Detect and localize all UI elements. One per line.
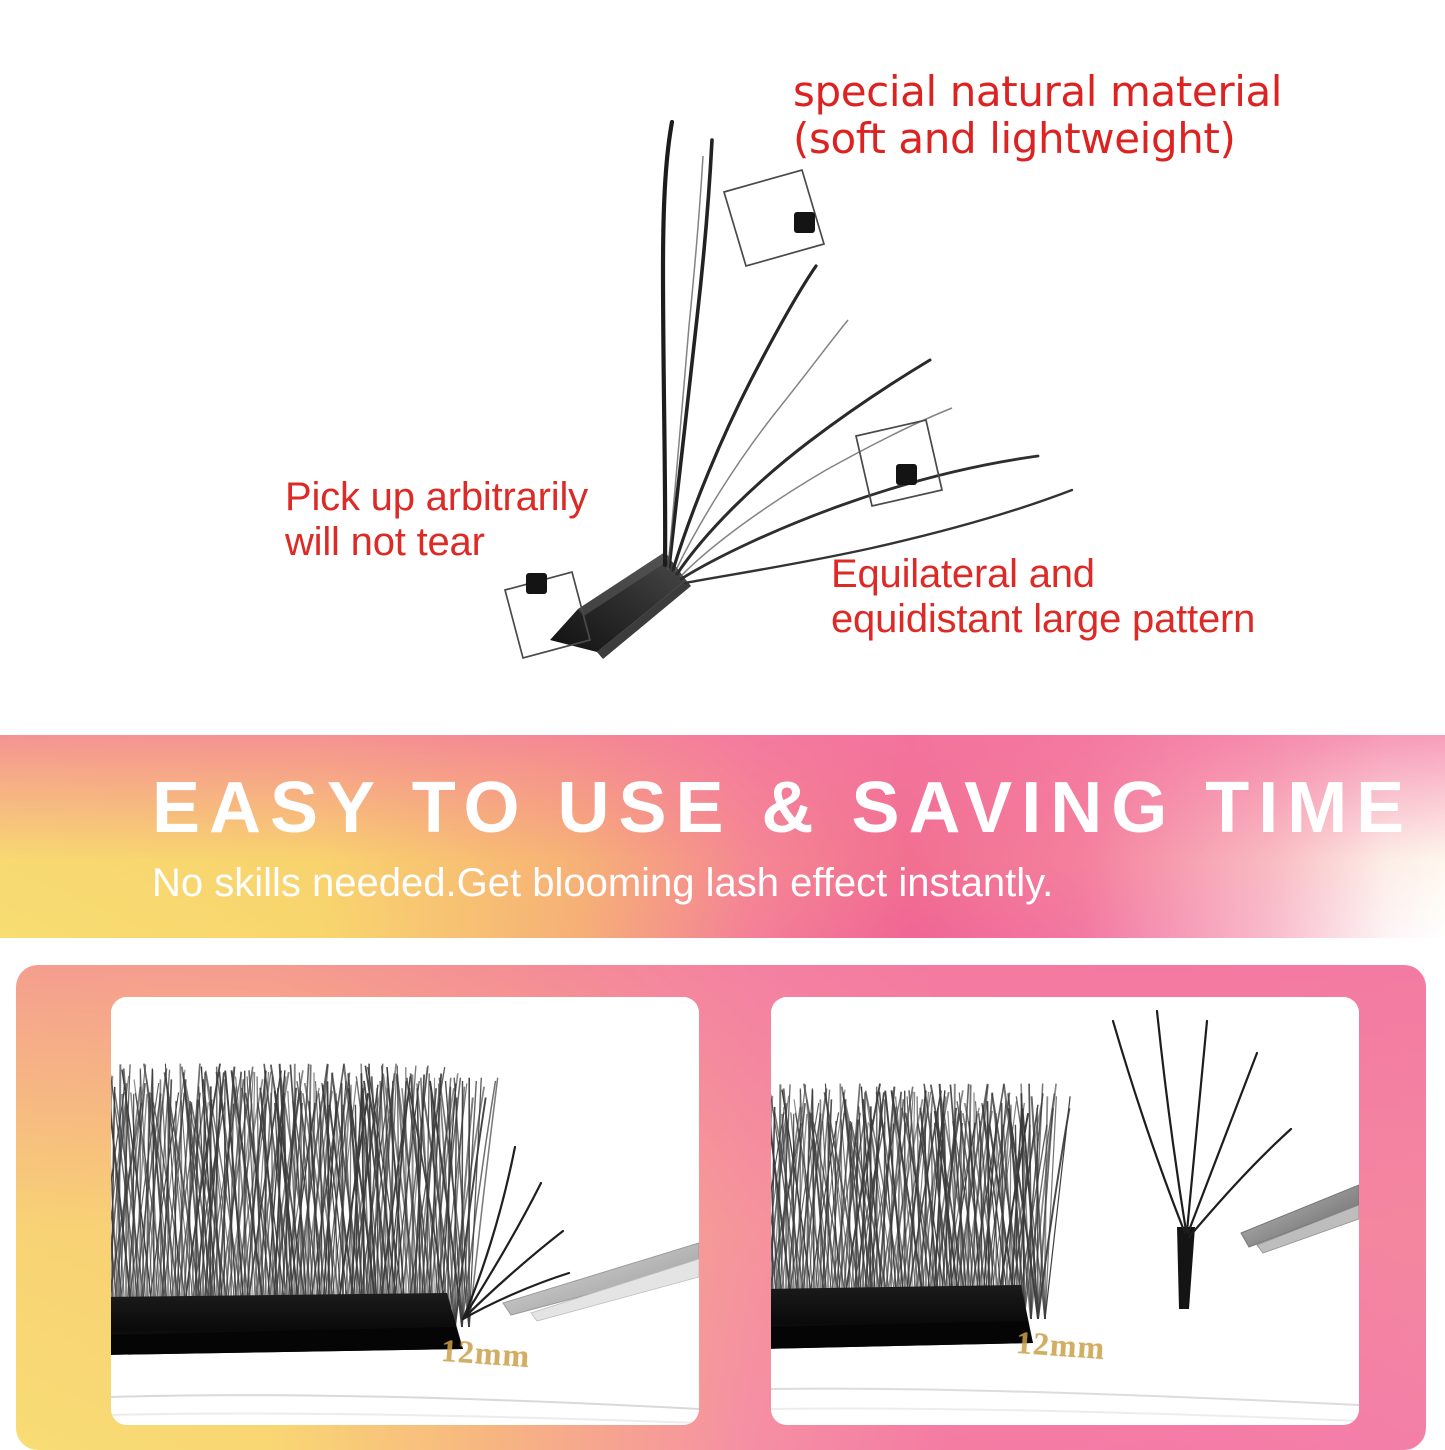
callout-marker-top <box>724 170 824 266</box>
callout-equilateral: Equilateral and equidistant large patter… <box>831 552 1255 642</box>
banner-title: EASY TO USE & SAVING TIME <box>152 767 1413 849</box>
top-feature-section: special natural material (soft and light… <box>0 0 1445 733</box>
photo-card-lash-tray: 12mm <box>111 997 699 1425</box>
lash-tray-photo <box>111 997 699 1425</box>
product-photo-panel: 12mm <box>16 965 1426 1450</box>
lash-length-label: 12mm <box>440 1332 532 1375</box>
banner-subtitle: No skills needed.Get blooming lash effec… <box>152 861 1053 906</box>
callout-pick-up: Pick up arbitrarily will not tear <box>285 475 588 565</box>
lash-length-label: 12mm <box>1015 1324 1107 1367</box>
callout-special-material: special natural material (soft and light… <box>793 68 1282 162</box>
callout-marker-right <box>856 420 942 506</box>
promo-banner: EASY TO USE & SAVING TIME No skills need… <box>0 735 1445 938</box>
photo-card-lash-fan: 12mm <box>771 997 1359 1425</box>
